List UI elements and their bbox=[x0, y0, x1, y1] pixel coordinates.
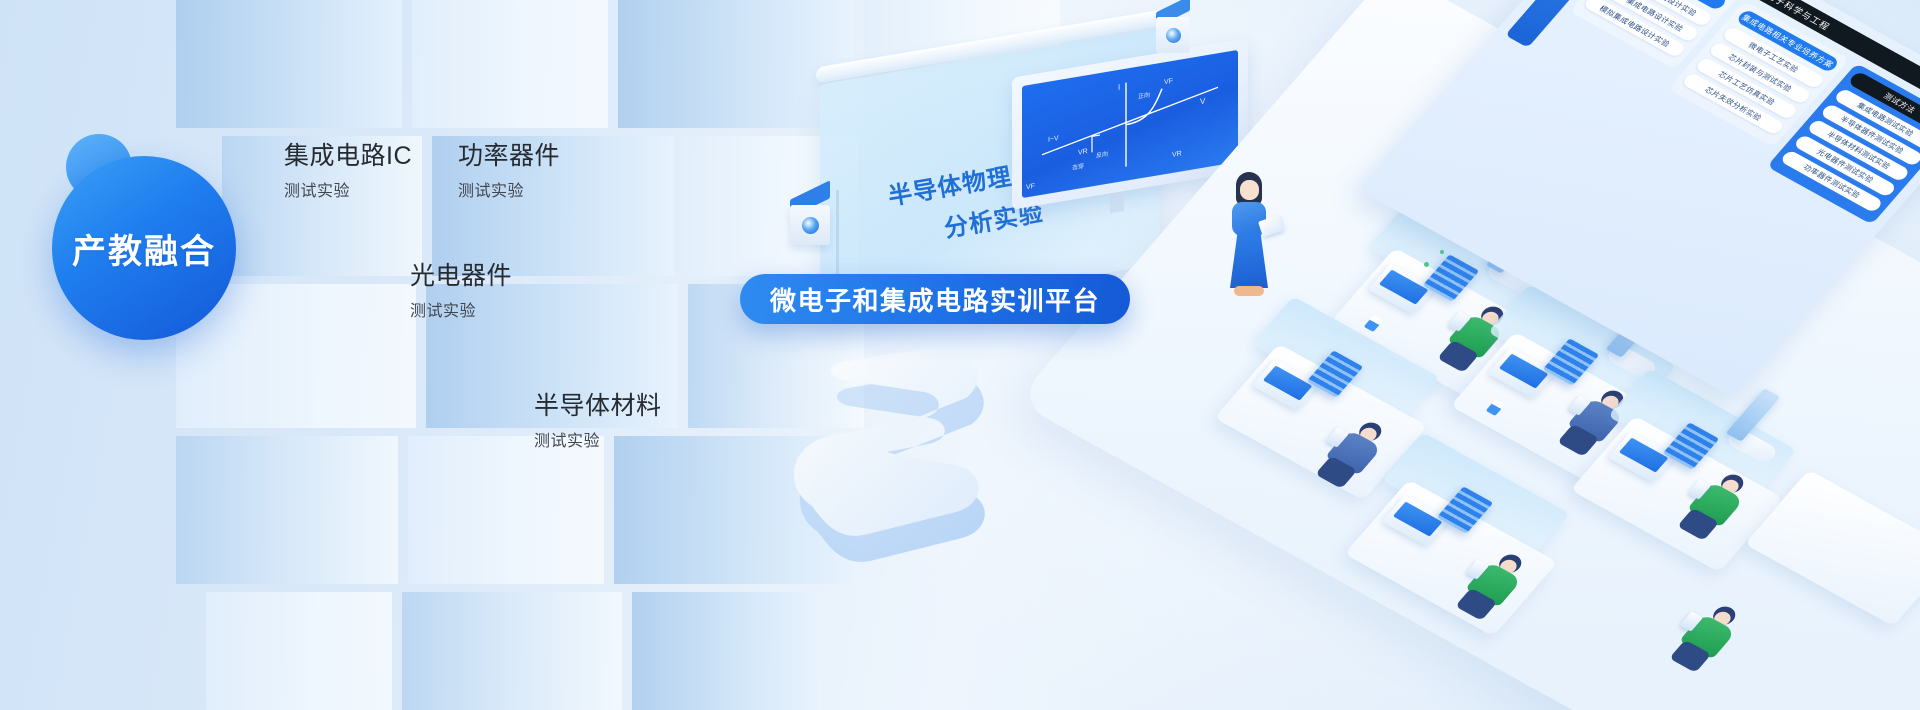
card-ic-subtitle: 测试实验 bbox=[284, 177, 412, 201]
card-optoelectronic-title: 光电器件 bbox=[410, 262, 512, 291]
svg-text:正向: 正向 bbox=[1138, 91, 1150, 101]
camera-cube bbox=[1156, 4, 1196, 56]
card-power-title: 功率器件 bbox=[458, 142, 560, 171]
product-education-badge[interactable]: 产教融合 bbox=[52, 156, 236, 340]
projector-lens-icon bbox=[802, 217, 819, 234]
card-semiconductor-material[interactable]: 半导体材料 测试实验 bbox=[534, 392, 662, 451]
svg-text:击穿: 击穿 bbox=[1072, 162, 1084, 172]
platform-title-pill[interactable]: 微电子和集成电路实训平台 bbox=[740, 274, 1130, 324]
svg-text:VF: VF bbox=[1164, 78, 1174, 87]
card-ic[interactable]: 集成电路IC 测试实验 bbox=[284, 142, 412, 201]
camera-lens-icon bbox=[1166, 28, 1181, 43]
projector-cube bbox=[790, 190, 838, 246]
instructor-person bbox=[1222, 172, 1278, 300]
card-optoelectronic-subtitle: 测试实验 bbox=[410, 297, 512, 321]
svg-text:VR: VR bbox=[1172, 150, 1182, 159]
card-semiconductor-material-subtitle: 测试实验 bbox=[534, 427, 662, 451]
card-power[interactable]: 功率器件 测试实验 bbox=[458, 142, 560, 201]
card-optoelectronic[interactable]: 光电器件 测试实验 bbox=[410, 262, 512, 321]
s-logo bbox=[772, 336, 1002, 566]
svg-text:I: I bbox=[1118, 83, 1120, 92]
badge-label: 产教融合 bbox=[72, 224, 216, 273]
card-power-subtitle: 测试实验 bbox=[458, 177, 560, 201]
card-semiconductor-material-title: 半导体材料 bbox=[534, 392, 662, 421]
platform-title-label: 微电子和集成电路实训平台 bbox=[770, 281, 1100, 318]
svg-text:V: V bbox=[1200, 96, 1206, 106]
svg-text:VF: VF bbox=[1026, 183, 1036, 192]
svg-text:反向: 反向 bbox=[1096, 150, 1108, 160]
svg-text:VR: VR bbox=[1078, 148, 1088, 157]
card-ic-title: 集成电路IC bbox=[284, 142, 412, 171]
banner-root: 产教融合 集成电路IC 测试实验 功率器件 测试实验 光电器件 测试实验 半导体… bbox=[0, 0, 1920, 710]
svg-text:I~V: I~V bbox=[1048, 135, 1059, 144]
